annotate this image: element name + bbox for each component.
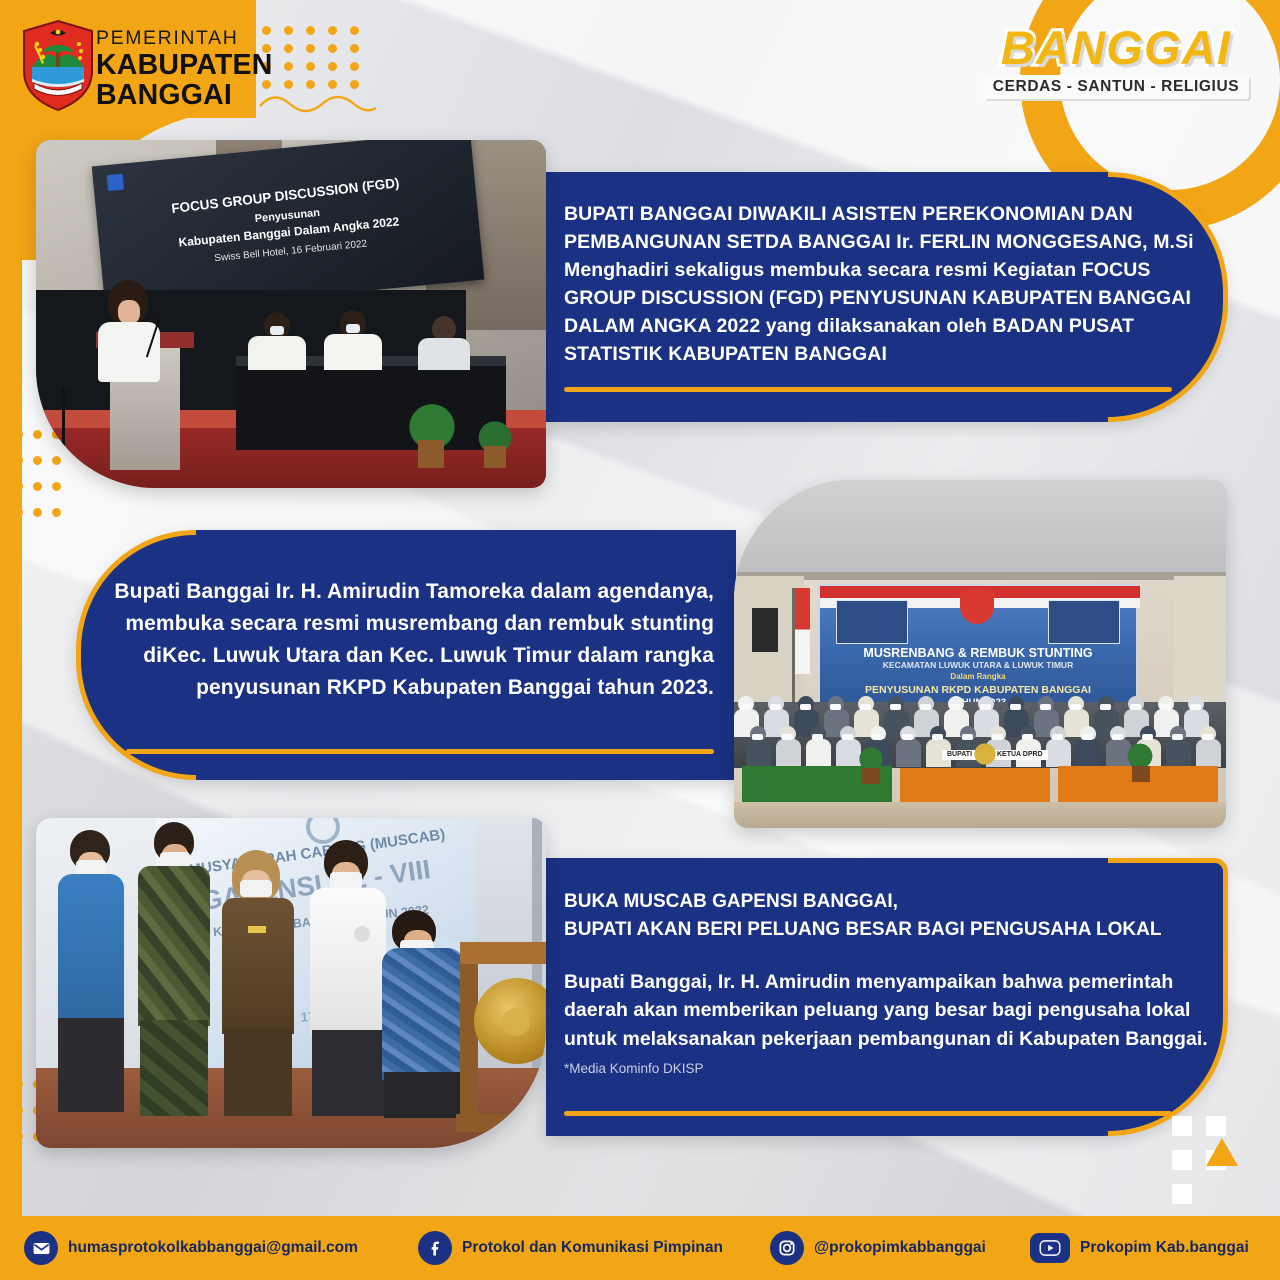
- muscab-gapensi-photo: MUSYAWARAH CABANG (MUSCAB) GAPENSI KE - …: [36, 818, 546, 1148]
- musrenbang-banner-title: MUSRENBANG & REMBUK STUNTING: [820, 646, 1136, 660]
- header-line-kabupaten: KABUPATEN: [96, 50, 273, 80]
- block-3-credit: *Media Kominfo DKISP: [564, 1061, 704, 1076]
- decorative-dot-grid-header: [262, 26, 374, 94]
- decorative-squares-triangle: [1166, 1110, 1262, 1206]
- facebook-icon: [418, 1231, 452, 1265]
- musrenbang-photo: MUSRENBANG & REMBUK STUNTING KECAMATAN L…: [734, 480, 1226, 828]
- email-envelope-icon: [24, 1231, 58, 1265]
- youtube-icon: [1030, 1233, 1070, 1263]
- footer-item-facebook[interactable]: Protokol dan Komunikasi Pimpinan: [418, 1216, 723, 1280]
- block-1-accent-line: [564, 387, 1172, 392]
- banggai-brand-lockup: BANGGAI CERDAS - SANTUN - RELIGIUS: [982, 24, 1250, 99]
- footer-email-label: humasprotokolkabbanggai@gmail.com: [68, 1239, 358, 1257]
- brand-name: BANGGAI: [982, 24, 1250, 71]
- footer-facebook-label: Protokol dan Komunikasi Pimpinan: [462, 1239, 723, 1257]
- footer-item-instagram[interactable]: @prokopimkabbanggai: [770, 1216, 986, 1280]
- footer-instagram-label: @prokopimkabbanggai: [814, 1239, 986, 1257]
- block-3-accent-line: [564, 1111, 1172, 1116]
- header-line-banggai: BANGGAI: [96, 80, 273, 110]
- fgd-photo: FOCUS GROUP DISCUSSION (FGD) Penyusunan …: [36, 140, 546, 488]
- instagram-icon: [770, 1231, 804, 1265]
- brand-tagline: CERDAS - SANTUN - RELIGIUS: [983, 75, 1249, 99]
- footer-item-youtube[interactable]: Prokopim Kab.banggai: [1030, 1216, 1249, 1280]
- musrenbang-banner-sub3: PENYUSUNAN RKPD KABUPATEN BANGGAI: [820, 684, 1136, 696]
- musrenbang-banner-sub1: KECAMATAN LUWUK UTARA & LUWUK TIMUR: [820, 661, 1136, 671]
- footer-bar: humasprotokolkabbanggai@gmail.com Protok…: [0, 1216, 1280, 1280]
- musrenbang-banner-sub2: Dalam Rangka: [820, 672, 1136, 681]
- block-2-accent-line: [126, 749, 714, 754]
- banggai-coat-of-arms-icon: [20, 19, 96, 112]
- footer-item-email[interactable]: humasprotokolkabbanggai@gmail.com: [24, 1216, 358, 1280]
- decorative-wave-line: [258, 92, 378, 118]
- header-line-pemerintah: PEMERINTAH: [96, 28, 273, 50]
- musrenbang-seat-label-ketua-dprd: KETUA DPRD: [992, 750, 1048, 760]
- header-title-group: PEMERINTAH KABUPATEN BANGGAI: [96, 28, 273, 110]
- footer-youtube-label: Prokopim Kab.banggai: [1080, 1239, 1249, 1257]
